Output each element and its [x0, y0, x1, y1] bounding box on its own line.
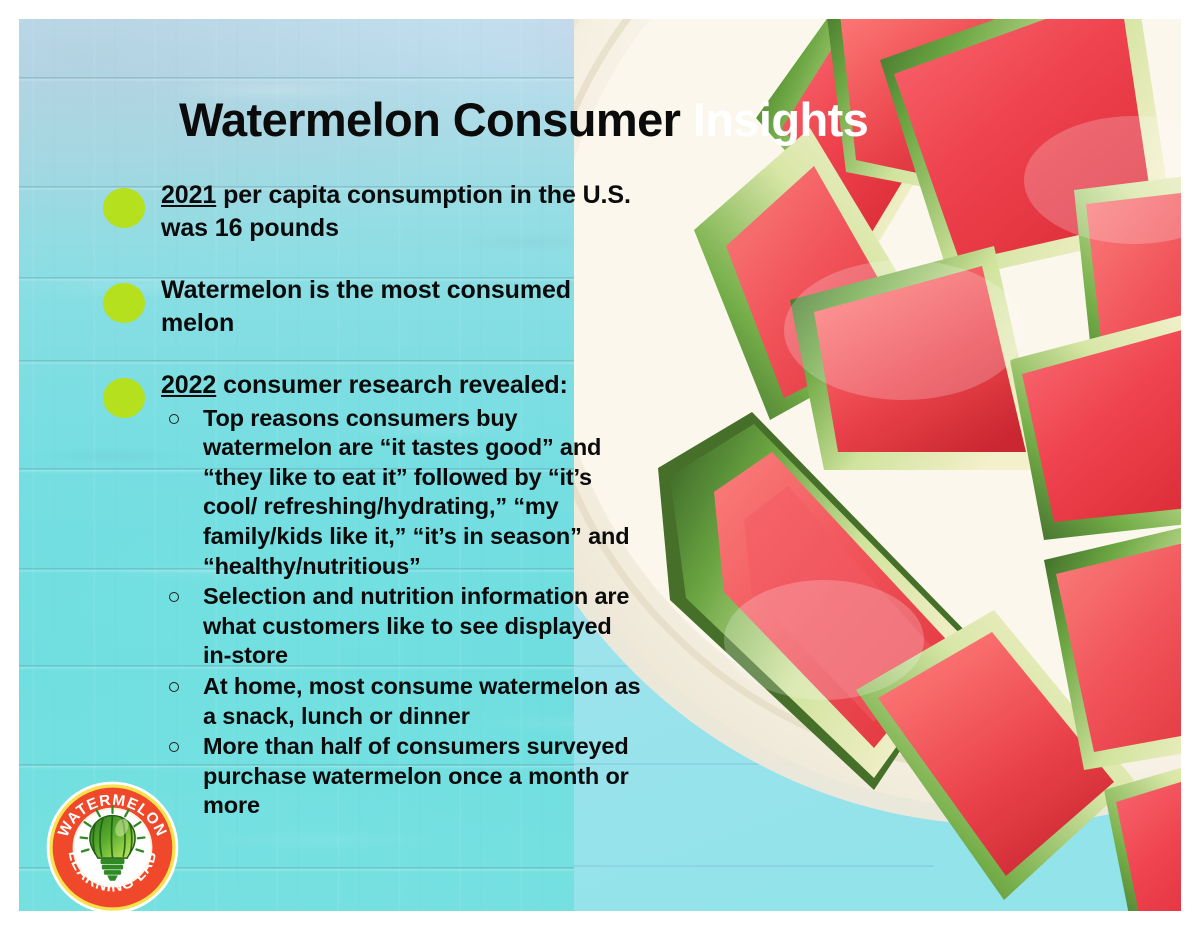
slide-canvas: Watermelon Consumer Insights 2021 per ca…	[19, 19, 1181, 911]
lime-circle-bullet-icon	[103, 378, 145, 418]
sub-bullet-text: Selection and nutrition information are …	[203, 583, 629, 668]
sub-bullet-item: More than half of consumers surveyed pur…	[161, 732, 643, 821]
bullet-rest-text: Watermelon is the most consumed melon	[161, 276, 571, 337]
bullet-text: 2021 per capita consumption in the U.S. …	[161, 179, 643, 244]
sub-bullet-text: More than half of consumers surveyed pur…	[203, 733, 629, 818]
bullet-underlined-text: 2021	[161, 181, 216, 209]
hollow-circle-bullet-icon	[169, 742, 179, 752]
bullet-item: Watermelon is the most consumed melon	[103, 274, 643, 339]
bullet-underlined-text: 2022	[161, 371, 216, 399]
hollow-circle-bullet-icon	[169, 682, 179, 692]
bullet-text: 2022 consumer research revealed:	[161, 369, 643, 402]
sub-bullet-text: At home, most consume watermelon as a sn…	[203, 673, 640, 729]
lime-circle-bullet-icon	[103, 283, 145, 323]
bullet-rest-text: consumer research revealed:	[216, 371, 568, 399]
page-title-dark: Watermelon Consumer	[179, 93, 693, 146]
sub-bullet-list: Top reasons consumers buy watermelon are…	[161, 404, 643, 822]
bullet-item: 2021 per capita consumption in the U.S. …	[103, 179, 643, 244]
watermelon-wedges-on-plate-photo	[574, 19, 1181, 911]
sub-bullet-item: Selection and nutrition information are …	[161, 582, 643, 671]
lime-circle-bullet-icon	[103, 188, 145, 228]
page-title-highlight: Insights	[693, 93, 868, 146]
bullet-text: Watermelon is the most consumed melon	[161, 274, 643, 339]
hollow-circle-bullet-icon	[169, 414, 179, 424]
bullet-item: 2022 consumer research revealed: Top rea…	[103, 369, 643, 821]
sub-bullet-text: Top reasons consumers buy watermelon are…	[203, 405, 629, 579]
slide-frame: Watermelon Consumer Insights 2021 per ca…	[0, 0, 1200, 927]
page-title: Watermelon Consumer Insights	[179, 95, 1079, 144]
bullet-list: 2021 per capita consumption in the U.S. …	[103, 179, 643, 822]
hollow-circle-bullet-icon	[169, 592, 179, 602]
sub-bullet-item: At home, most consume watermelon as a sn…	[161, 672, 643, 731]
bullet-rest-text: per capita consumption in the U.S. was 1…	[161, 181, 631, 242]
watermelon-learning-lab-logo: WATERMELON LEARNING LAB	[46, 781, 179, 911]
sub-bullet-item: Top reasons consumers buy watermelon are…	[161, 404, 643, 582]
